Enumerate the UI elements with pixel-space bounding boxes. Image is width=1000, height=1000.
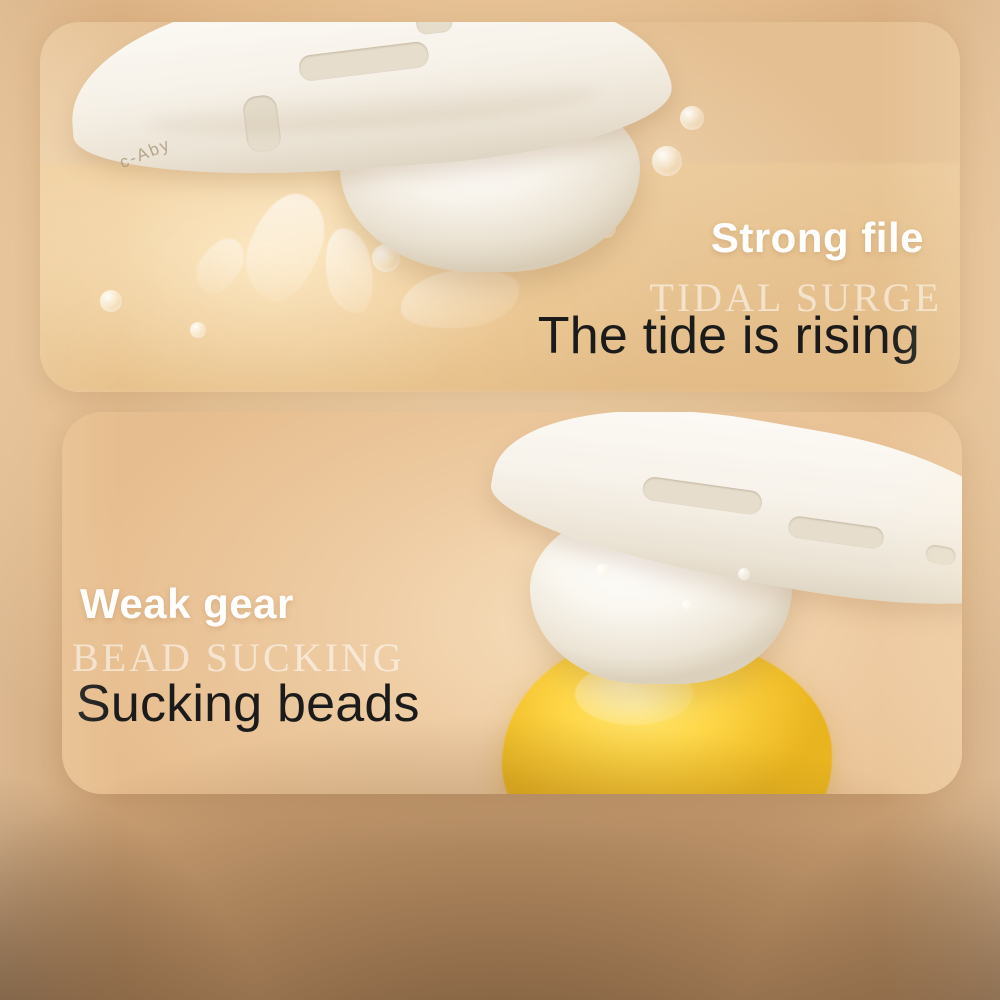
device-slot: [242, 94, 283, 154]
device-embossed-text: c-Aby: [117, 106, 245, 173]
bubble: [682, 600, 692, 610]
mode-label-weak: Weak gear: [80, 580, 294, 628]
device-slot: [924, 544, 957, 567]
bubble: [680, 106, 704, 130]
description-sucking-beads: Sucking beads: [76, 674, 420, 734]
bubble: [596, 564, 610, 578]
device-slot: [298, 41, 430, 83]
description-tide-rising: The tide is rising: [538, 306, 920, 366]
bubble: [100, 290, 122, 312]
bubble: [190, 322, 206, 338]
device-slot: [787, 515, 885, 550]
panel-strong-mode: c-Aby Strong file TIDAL SURGE The tide i…: [40, 22, 960, 392]
advertisement-canvas: c-Aby Strong file TIDAL SURGE The tide i…: [0, 0, 1000, 1000]
device-slot: [641, 476, 763, 516]
mode-label-strong: Strong file: [711, 214, 924, 262]
device-slot: [415, 22, 453, 35]
panel-weak-mode: Weak gear BEAD SUCKING Sucking beads: [62, 412, 962, 794]
bubble: [652, 146, 682, 176]
bubble: [738, 568, 750, 580]
